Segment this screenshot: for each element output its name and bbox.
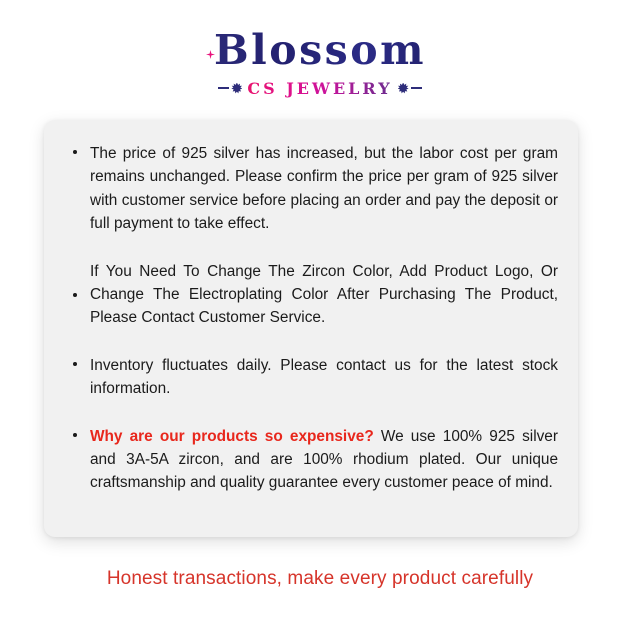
list-item: Why are our products so expensive? We us… [66, 425, 558, 495]
brand-header: Blossom CS JEWELRY [0, 30, 640, 97]
footer-slogan: Honest transactions, make every product … [0, 568, 640, 590]
list-item-highlight: Why are our products so expensive? [90, 428, 374, 445]
list-item-text: Why are our products so expensive? We us… [90, 425, 558, 495]
bullet-dot-icon [73, 293, 77, 297]
bullet-dot-icon [73, 150, 77, 154]
list-item-text: The price of 925 silver has increased, b… [90, 142, 558, 236]
ornament-star-left [231, 83, 242, 94]
ornament-dash-right [411, 87, 422, 89]
ornament-star-right [398, 83, 409, 94]
brand-name-text: Blossom [214, 26, 426, 74]
list-item: If You Need To Change The Zircon Color, … [66, 260, 558, 330]
brand-tagline-text: CS JEWELRY [247, 79, 392, 98]
star-ornament-icon-left [218, 83, 242, 94]
list-item: The price of 925 silver has increased, b… [66, 142, 558, 236]
brand-wordmark: Blossom [208, 30, 432, 71]
ornament-dash-left [218, 87, 229, 89]
list-item: Inventory fluctuates daily. Please conta… [66, 354, 558, 401]
bullet-dot-icon [73, 433, 77, 437]
list-item-text: If You Need To Change The Zircon Color, … [90, 260, 558, 330]
bullet-dot-icon [73, 362, 77, 366]
notice-list: The price of 925 silver has increased, b… [66, 142, 558, 495]
list-item-text: Inventory fluctuates daily. Please conta… [90, 354, 558, 401]
notice-card: The price of 925 silver has increased, b… [44, 120, 578, 537]
star-ornament-icon-right [398, 83, 422, 94]
brand-tagline-row: CS JEWELRY [0, 79, 640, 97]
